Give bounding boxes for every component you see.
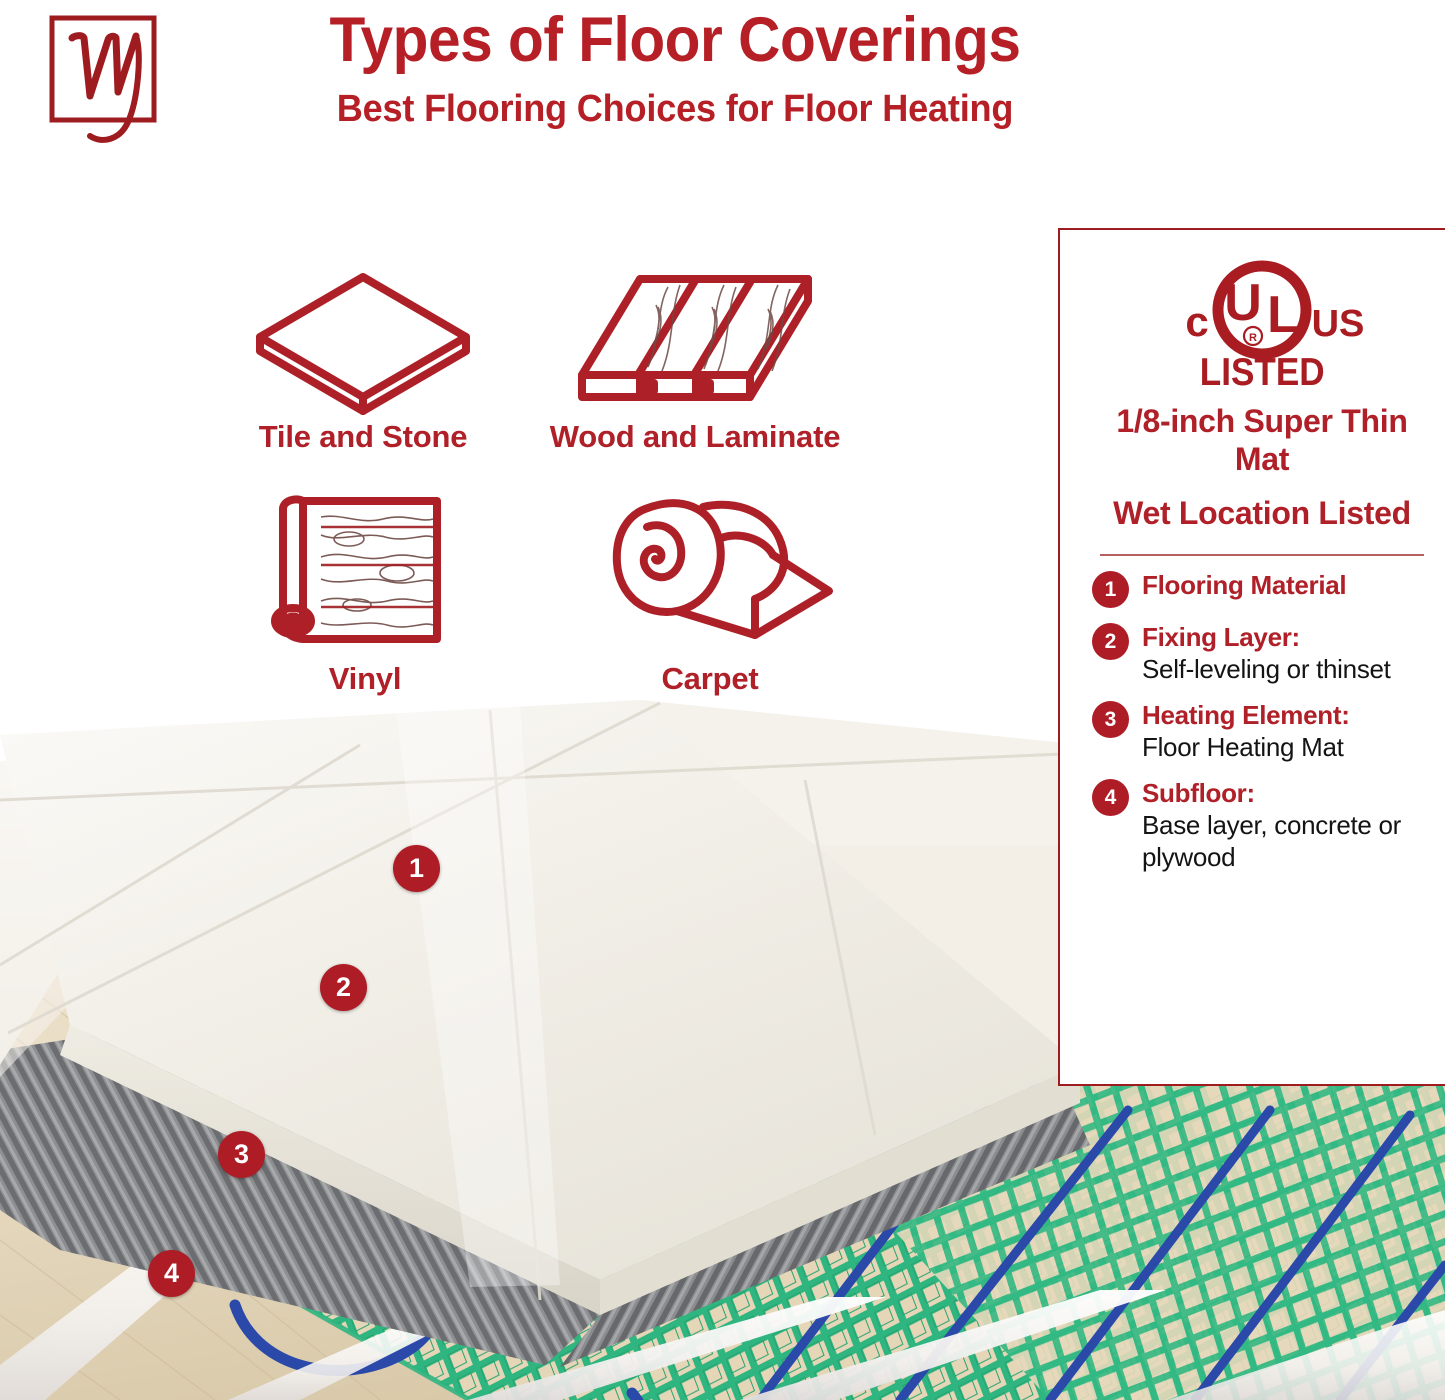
legend-badge-2: 2 (1092, 623, 1129, 660)
legend-item-2[interactable]: 2 Fixing Layer: Self-leveling or thinset (1092, 622, 1432, 686)
panel-heading-thin-mat: 1/8-inch Super Thin Mat (1092, 403, 1432, 479)
flooring-type-label: Carpet (560, 661, 860, 697)
svg-text:U: U (1224, 274, 1262, 332)
svg-text:LISTED: LISTED (1200, 349, 1325, 393)
legend-desc-3: Floor Heating Mat (1142, 732, 1432, 764)
legend-item-3[interactable]: 3 Heating Element: Floor Heating Mat (1092, 700, 1432, 764)
legend-text-1: Flooring Material (1142, 570, 1432, 601)
page-subtitle: Best Flooring Choices for Floor Heating (195, 90, 1155, 130)
header: Types of Floor Coverings Best Flooring C… (0, 0, 1445, 205)
wood-plank-icon (570, 265, 820, 415)
flooring-type-label: Tile and Stone (218, 419, 508, 455)
tile-slab-icon (248, 265, 478, 415)
legend-badge-1: 1 (1092, 571, 1129, 608)
legend-item-1[interactable]: 1 Flooring Material (1092, 570, 1432, 608)
flooring-type-label: Wood and Laminate (520, 419, 870, 455)
layer-marker-3[interactable]: 3 (218, 1131, 265, 1178)
wy-monogram-icon (38, 12, 168, 147)
legend-title-1: Flooring Material (1142, 570, 1432, 601)
flooring-type-vinyl[interactable]: Vinyl (230, 487, 500, 697)
legend-text-4: Subfloor: Base layer, concrete or plywoo… (1142, 778, 1432, 874)
flooring-type-wood-and-laminate[interactable]: Wood and Laminate (520, 265, 870, 455)
legend-badge-3: 3 (1092, 701, 1129, 738)
title-block: Types of Floor Coverings Best Flooring C… (170, 8, 1180, 130)
flooring-type-carpet[interactable]: Carpet (560, 487, 860, 697)
legend-text-3: Heating Element: Floor Heating Mat (1142, 700, 1432, 764)
ul-listed-mark: U L R c US LISTED (1092, 258, 1432, 393)
flooring-type-tile-and-stone[interactable]: Tile and Stone (218, 265, 508, 455)
page-title: Types of Floor Coverings (205, 8, 1144, 72)
layer-marker-1[interactable]: 1 (393, 845, 440, 892)
layer-marker-2[interactable]: 2 (320, 964, 367, 1011)
ul-listed-icon: U L R c US LISTED (1147, 258, 1377, 393)
legend-desc-4: Base layer, concrete or plywood (1142, 810, 1432, 873)
svg-text:R: R (1249, 332, 1257, 344)
legend-desc-2: Self-leveling or thinset (1142, 654, 1432, 686)
svg-text:US: US (1312, 303, 1365, 345)
flooring-type-label: Vinyl (230, 661, 500, 697)
layer-legend-list: 1 Flooring Material 2 Fixing Layer: Self… (1092, 570, 1432, 873)
vinyl-roll-icon (265, 487, 465, 657)
legend-title-2: Fixing Layer: (1142, 622, 1432, 653)
svg-text:L: L (1267, 286, 1299, 344)
panel-heading-wet-location: Wet Location Listed (1092, 495, 1432, 533)
legend-title-4: Subfloor: (1142, 778, 1432, 809)
flooring-types-group: Tile and Stone (200, 265, 960, 735)
brand-logo[interactable] (38, 12, 168, 147)
panel-divider (1100, 554, 1424, 556)
legend-item-4[interactable]: 4 Subfloor: Base layer, concrete or plyw… (1092, 778, 1432, 874)
svg-text:c: c (1185, 298, 1208, 345)
legend-text-2: Fixing Layer: Self-leveling or thinset (1142, 622, 1432, 686)
legend-title-3: Heating Element: (1142, 700, 1432, 731)
infographic-root: Types of Floor Coverings Best Flooring C… (0, 0, 1445, 1400)
certification-info-panel: U L R c US LISTED 1/8-inch Super Thin Ma… (1058, 228, 1445, 1086)
legend-badge-4: 4 (1092, 779, 1129, 816)
layer-marker-4[interactable]: 4 (148, 1250, 195, 1297)
carpet-roll-icon (585, 487, 835, 657)
